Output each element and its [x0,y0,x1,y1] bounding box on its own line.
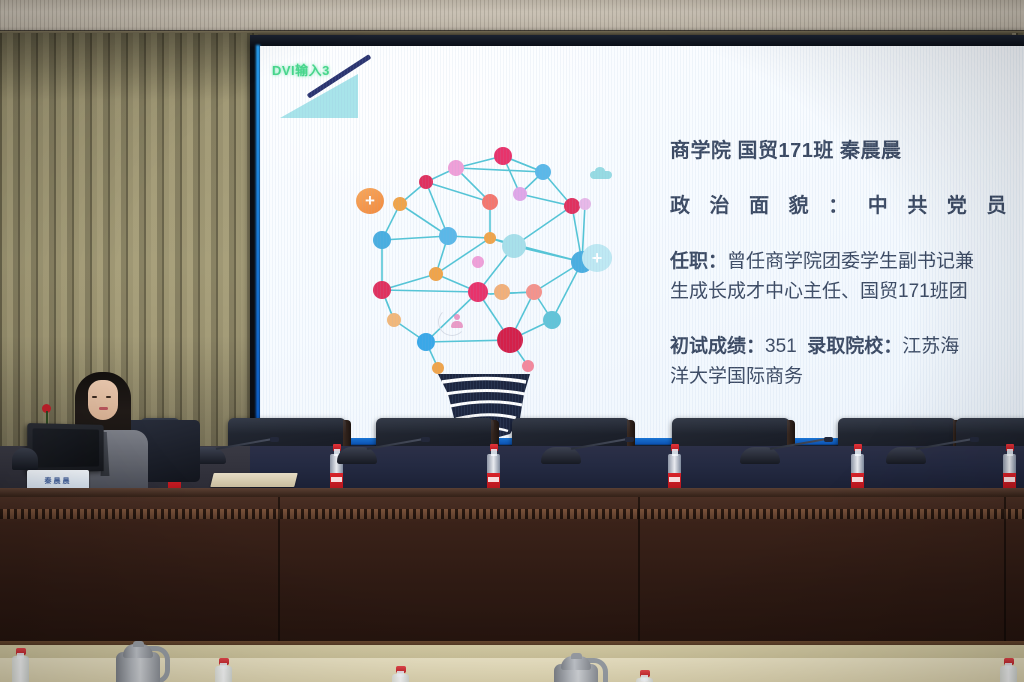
podium-front-panel [0,497,1024,645]
slide-line-3-label: 任职： [670,251,727,272]
slide-line-5-value-a: 351 [765,336,797,357]
slide-line-4: 生成长成才中心主任、国贸171班团 [670,276,1024,303]
presenter: 秦晨晨 [0,362,250,494]
person-icon [450,314,464,328]
podium-molding [0,509,1024,519]
network-lightbulb-graphic [338,142,638,438]
presenter-eye-left [92,396,97,398]
slide-line-6: 洋大学国际商务 [670,361,1024,388]
slide-line-5-value-b: 江苏海 [902,336,959,357]
cloud-icon [590,171,612,179]
presenter-nameplate-text: 秦晨晨 [45,476,72,486]
presenter-eye-right [106,396,111,398]
plus-badge-cyan-icon: + [582,244,612,272]
projected-slide: DVI输入3 [260,46,1024,438]
presenter-laptop [27,423,103,473]
projection-screen-frame: DVI输入3 [250,35,1024,445]
slide-line-5-label-b: 录取院校： [807,336,902,357]
foreground-water-bottle [392,666,409,682]
water-bottle [487,444,500,492]
foreground-water-bottle [636,670,653,682]
podium-seam [278,497,280,645]
podium-seam [1004,497,1006,645]
slide-line-5: 初试成绩：351 录取院校：江苏海 [670,331,1024,358]
presenter-microphone [12,448,38,470]
thermos-pitcher [110,640,168,682]
thermos-pitcher [548,652,606,682]
presenter-mouth [99,407,108,410]
slide-text-block: 商学院 国贸171班 秦晨晨 政 治 面 貌 ： 中 共 党 员 任职：曾任商学… [670,134,1024,388]
water-bottle [668,444,681,492]
slide-line-3: 任职：曾任商学院团委学生副书记兼 [670,246,1024,273]
presenter-face [88,380,118,420]
foreground-water-bottle [12,648,29,682]
slide-line-3-value: 曾任商学院团委学生副书记兼 [727,251,974,272]
slide-line-5-label-a: 初试成绩： [670,336,765,357]
plus-badge-orange-icon: + [356,188,384,214]
slide-logo [280,68,380,134]
podium-seam [638,497,640,645]
ceiling-panel [0,0,1024,34]
slide-line-2: 政 治 面 貌 ： 中 共 党 员 [670,189,1024,218]
foreground-water-bottle [1000,658,1017,682]
logo-triangle-icon [280,74,358,118]
water-bottle [1003,444,1016,492]
foreground-water-bottle [215,658,232,682]
water-bottle [851,444,864,492]
conference-room-scene: DVI输入3 [0,0,1024,682]
slide-line-1: 商学院 国贸171班 秦晨晨 [670,134,1024,163]
